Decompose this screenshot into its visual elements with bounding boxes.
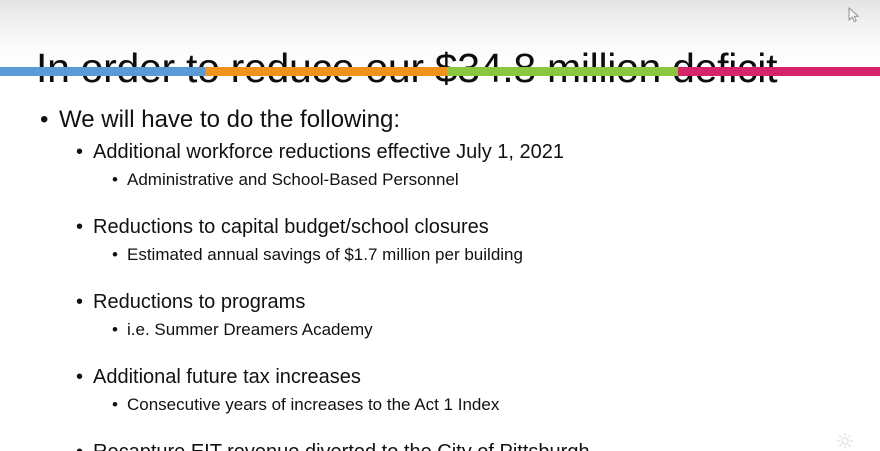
bullet-item: •Administrative and School-Based Personn… [0, 167, 880, 192]
bullet-point-icon: • [76, 138, 93, 166]
bullet-item: •Reductions to capital budget/school clo… [0, 213, 880, 241]
bullet-text: Consecutive years of increases to the Ac… [127, 392, 499, 417]
bullet-item: •Recapture EIT revenue diverted to the C… [0, 438, 880, 451]
sun-brightness-icon [834, 432, 856, 450]
accent-segment-pink [678, 67, 880, 76]
bullet-point-icon: • [76, 213, 93, 241]
bullet-point-icon: • [112, 242, 127, 267]
bullet-point-icon: • [76, 288, 93, 316]
bullet-point-icon: • [112, 167, 127, 192]
bullet-point-icon: • [112, 392, 127, 417]
mouse-pointer-icon [848, 7, 860, 23]
bullet-item: •i.e. Summer Dreamers Academy [0, 317, 880, 342]
bullet-point-icon: • [40, 104, 59, 136]
bullet-item: •Additional future tax increases [0, 363, 880, 391]
bullet-point-icon: • [76, 363, 93, 391]
slide-body: •We will have to do the following:•Addit… [0, 104, 880, 451]
bullet-item: •Additional workforce reductions effecti… [0, 138, 880, 166]
bullet-point-icon: • [76, 438, 93, 451]
bullet-text: We will have to do the following: [59, 104, 400, 136]
accent-color-bar [0, 67, 880, 76]
bullet-text: Reductions to programs [93, 288, 305, 316]
bullet-text: Additional workforce reductions effectiv… [93, 138, 564, 166]
bullet-item: •Consecutive years of increases to the A… [0, 392, 880, 417]
bullet-text: Additional future tax increases [93, 363, 361, 391]
bullet-point-icon: • [112, 317, 127, 342]
bullet-text: Administrative and School-Based Personne… [127, 167, 459, 192]
accent-segment-blue [0, 67, 205, 76]
bullet-text: Estimated annual savings of $1.7 million… [127, 242, 523, 267]
bullet-item: •Estimated annual savings of $1.7 millio… [0, 242, 880, 267]
accent-segment-green [447, 67, 678, 76]
bullet-text: i.e. Summer Dreamers Academy [127, 317, 373, 342]
bullet-item: •We will have to do the following: [0, 104, 880, 136]
bullet-item: •Reductions to programs [0, 288, 880, 316]
accent-segment-orange [205, 67, 447, 76]
bullet-text: Recapture EIT revenue diverted to the Ci… [93, 438, 590, 451]
bullet-text: Reductions to capital budget/school clos… [93, 213, 489, 241]
presentation-slide: In order to reduce our $34.8 million def… [0, 0, 880, 451]
